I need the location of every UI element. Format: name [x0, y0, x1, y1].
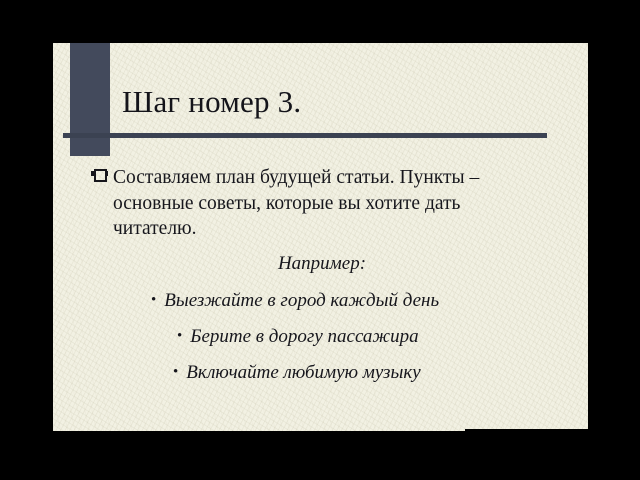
list-item-label: Выезжайте в город каждый день: [164, 290, 439, 311]
slide-title: Шаг номер 3.: [122, 84, 552, 120]
main-bullet-text: Составляем план будущей статьи. Пункты –…: [113, 167, 479, 239]
round-bullet-icon: •: [173, 359, 178, 385]
list-item: •Выезжайте в город каждый день: [93, 287, 573, 314]
list-item: •Берите в дорогу пассажира: [93, 323, 573, 350]
main-bullet-point: Составляем план будущей статьи. Пункты –…: [93, 165, 543, 242]
round-bullet-icon: •: [151, 287, 156, 313]
slide-bottom-notch: [465, 429, 588, 431]
example-label: Например:: [93, 251, 573, 277]
title-accent-bar: [70, 43, 110, 156]
list-item-label: Берите в дорогу пассажира: [190, 326, 418, 347]
square-bullet-icon: [93, 167, 106, 180]
list-item: •Включайте любимую музыку: [93, 359, 573, 386]
list-item-label: Включайте любимую музыку: [186, 362, 420, 383]
slide-body: Составляем план будущей статьи. Пункты –…: [93, 165, 573, 386]
video-letterbox-stage: Шаг номер 3. Составляем план будущей ста…: [0, 0, 640, 480]
presentation-slide: Шаг номер 3. Составляем план будущей ста…: [53, 43, 588, 431]
round-bullet-icon: •: [177, 323, 182, 349]
title-horizontal-rule: [63, 133, 547, 138]
